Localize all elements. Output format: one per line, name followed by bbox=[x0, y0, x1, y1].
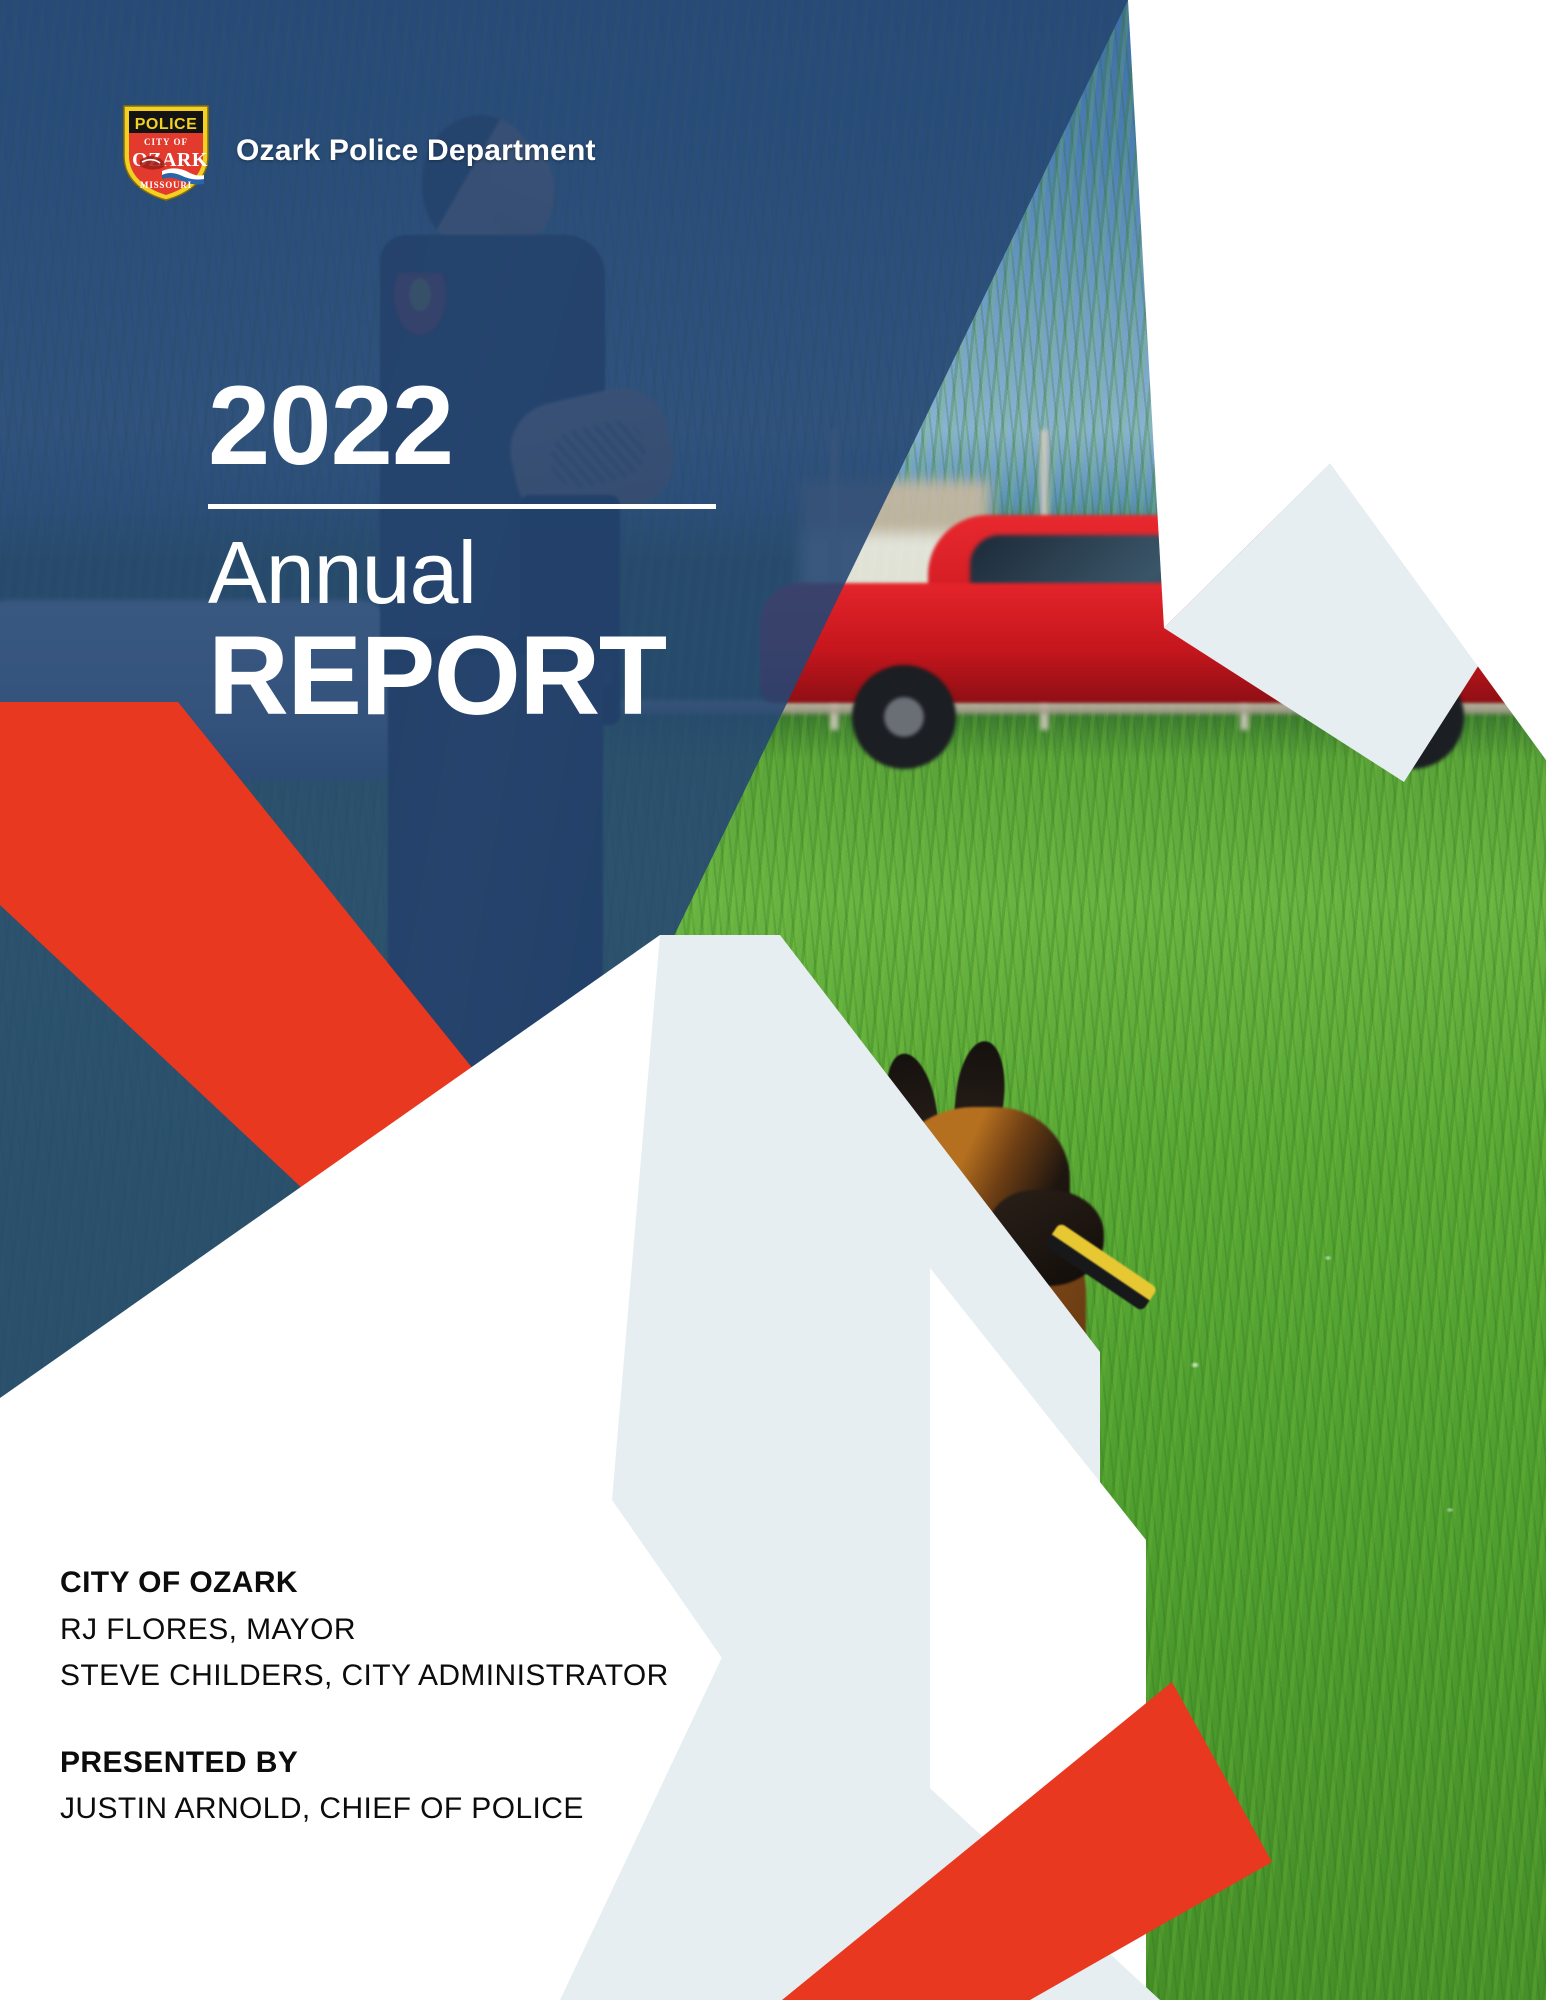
title-report: REPORT bbox=[208, 619, 828, 733]
credits-city-administrator: STEVE CHILDERS, CITY ADMINISTRATOR bbox=[60, 1653, 820, 1700]
cover-credits-block: CITY OF OZARK RJ FLORES, MAYOR STEVE CHI… bbox=[60, 1560, 820, 1833]
police-shield-badge-icon: POLICE CITY OF OZARK MISSOURI bbox=[118, 100, 214, 202]
report-year: 2022 bbox=[208, 370, 828, 482]
title-divider-rule bbox=[208, 504, 716, 509]
cover-header: POLICE CITY OF OZARK MISSOURI Ozark Poli… bbox=[118, 100, 596, 202]
cover-title-block: 2022 Annual REPORT bbox=[208, 370, 828, 734]
svg-text:CITY OF: CITY OF bbox=[144, 137, 188, 147]
report-cover-page: POLICE CITY OF OZARK MISSOURI Ozark Poli… bbox=[0, 0, 1546, 2000]
credits-presenter: JUSTIN ARNOLD, CHIEF OF POLICE bbox=[60, 1786, 820, 1833]
credits-spacer bbox=[60, 1700, 820, 1740]
credits-presented-heading: PRESENTED BY bbox=[60, 1740, 820, 1787]
suv-wheel bbox=[852, 665, 956, 769]
department-name: Ozark Police Department bbox=[236, 134, 596, 168]
svg-text:MISSOURI: MISSOURI bbox=[140, 180, 192, 190]
credits-city-heading: CITY OF OZARK bbox=[60, 1560, 820, 1607]
title-annual: Annual bbox=[208, 527, 828, 619]
credits-mayor: RJ FLORES, MAYOR bbox=[60, 1607, 820, 1654]
svg-text:POLICE: POLICE bbox=[135, 116, 198, 133]
